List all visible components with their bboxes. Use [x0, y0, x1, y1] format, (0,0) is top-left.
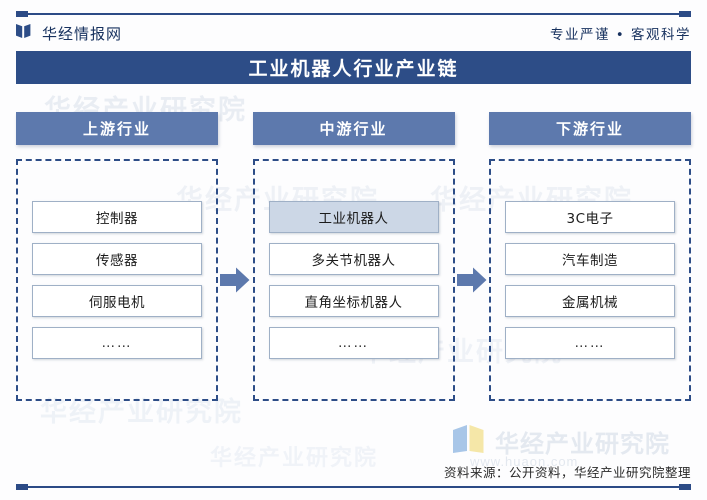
arrow-right-icon	[220, 267, 250, 293]
node-item-ellipsis[interactable]: ……	[505, 327, 675, 359]
arrow-right-icon	[457, 267, 487, 293]
node-item[interactable]: 多关节机器人	[269, 243, 439, 275]
brand-identity: 华经情报网	[16, 23, 122, 44]
column-header-downstream: 下游行业	[489, 112, 691, 145]
top-accent-rule	[16, 13, 691, 15]
column-header-upstream: 上游行业	[16, 112, 218, 145]
node-item[interactable]: 直角坐标机器人	[269, 285, 439, 317]
page-title: 工业机器人行业产业链	[248, 54, 458, 81]
watermark-text: 华经产业研究院	[210, 440, 378, 472]
book-logo-icon	[16, 23, 35, 44]
source-note: 资料来源：公开资料，华经产业研究院整理	[444, 462, 691, 481]
corner-watermark-text: 华经产业研究院	[495, 424, 670, 459]
node-item[interactable]: 3C电子	[505, 201, 675, 233]
node-item-highlighted[interactable]: 工业机器人	[269, 201, 439, 233]
node-item[interactable]: 汽车制造	[505, 243, 675, 275]
infographic-page: 华经产业研究院 华经产业研究院 华经产业研究院 华经产业研究院 华经产业研究院 …	[0, 0, 707, 500]
node-item[interactable]: 伺服电机	[32, 285, 202, 317]
chain-column-upstream: 上游行业 控制器 传感器 伺服电机 ……	[16, 112, 218, 401]
connector-gap	[455, 159, 490, 401]
chain-column-downstream: 下游行业 3C电子 汽车制造 金属机械 ……	[489, 112, 691, 401]
industry-chain: 上游行业 控制器 传感器 伺服电机 …… 中游行业 工业机器人 多关节机器人 直…	[16, 112, 691, 422]
column-body-midstream: 工业机器人 多关节机器人 直角坐标机器人 ……	[253, 159, 455, 401]
connector-gap	[218, 159, 253, 401]
node-item-ellipsis[interactable]: ……	[269, 327, 439, 359]
node-item[interactable]: 传感器	[32, 243, 202, 275]
open-book-icon	[452, 424, 486, 459]
column-body-downstream: 3C电子 汽车制造 金属机械 ……	[489, 159, 691, 401]
brand-header: 华经情报网 专业严谨 • 客观科学	[16, 18, 691, 48]
column-header-midstream: 中游行业	[253, 112, 455, 145]
title-band: 工业机器人行业产业链	[16, 51, 691, 84]
brand-tagline: 专业严谨 • 客观科学	[550, 23, 691, 43]
brand-name: 华经情报网	[42, 23, 122, 44]
node-item[interactable]: 金属机械	[505, 285, 675, 317]
bottom-accent-rule	[16, 486, 691, 488]
corner-watermark-logo: 华经产业研究院	[452, 424, 670, 459]
node-item-ellipsis[interactable]: ……	[32, 327, 202, 359]
node-item[interactable]: 控制器	[32, 201, 202, 233]
column-body-upstream: 控制器 传感器 伺服电机 ……	[16, 159, 218, 401]
chain-column-midstream: 中游行业 工业机器人 多关节机器人 直角坐标机器人 ……	[253, 112, 455, 401]
